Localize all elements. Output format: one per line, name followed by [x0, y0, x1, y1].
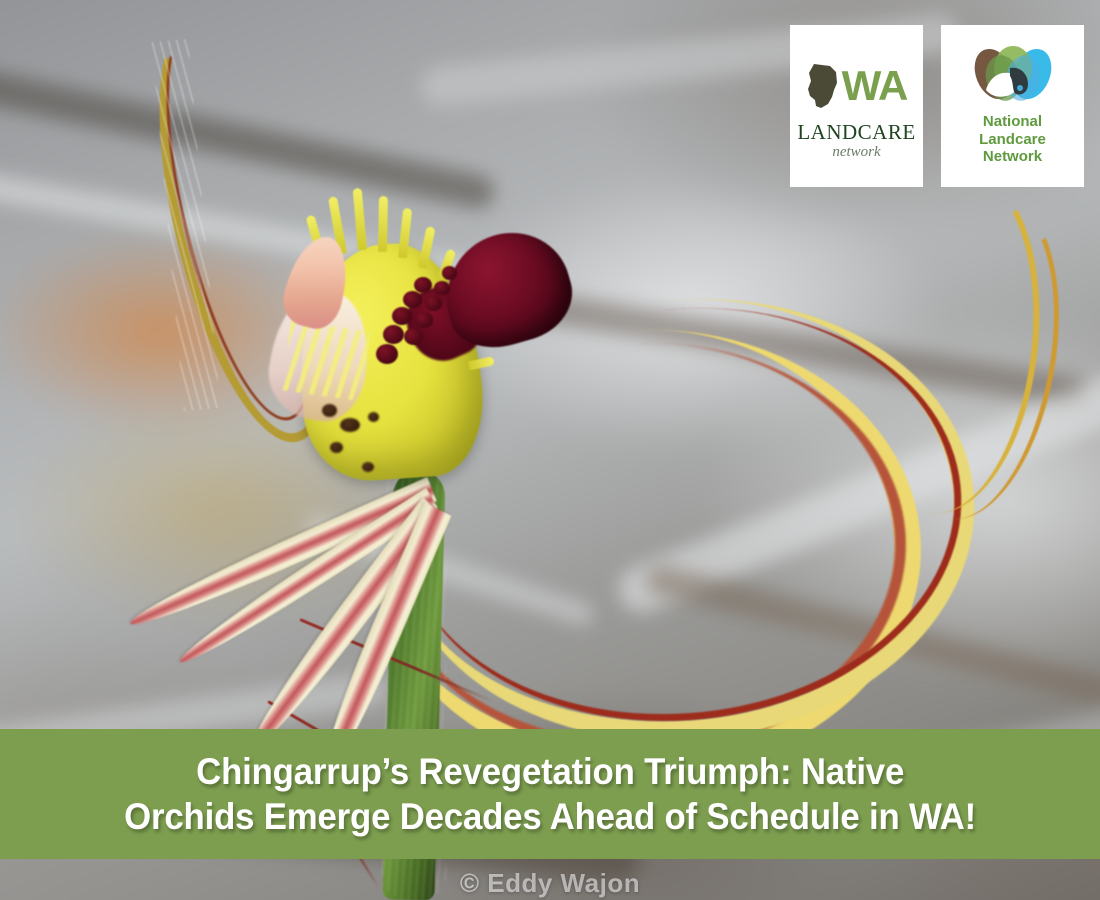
orchid-callus	[392, 307, 412, 325]
orchid-callus	[425, 296, 442, 311]
banner-title: Chingarrup’s Revegetation Triumph: Nativ…	[107, 749, 993, 839]
orchid-hood-spot	[330, 442, 343, 453]
title-banner: Chingarrup’s Revegetation Triumph: Nativ…	[0, 729, 1100, 859]
orchid-callus	[414, 277, 432, 293]
nln-logo-line-3: Network	[979, 148, 1046, 166]
photo-credit-watermark: © Eddy Wajon	[0, 868, 1100, 899]
orchid-fringe-tooth	[378, 196, 388, 252]
western-australia-map-icon	[806, 63, 840, 109]
orchid-callus	[404, 328, 423, 345]
logo-wa-landcare-network: WA LANDCARE network	[790, 25, 923, 187]
nln-logo-line-2: Landcare	[979, 131, 1046, 149]
orchid-callus	[403, 291, 422, 308]
wa-logo-letters: WA	[842, 65, 908, 107]
nln-logo-line-1: National	[979, 113, 1046, 131]
national-landcare-leaf-icon	[970, 46, 1056, 108]
orchid-callus	[383, 325, 404, 344]
logo-group: WA LANDCARE network National	[790, 25, 1084, 187]
poster-image: WA LANDCARE network National	[0, 0, 1100, 900]
orchid-hood-spot	[322, 404, 337, 417]
banner-title-line-1: Chingarrup’s Revegetation Triumph: Nativ…	[124, 749, 976, 794]
orchid-inner-fringe	[282, 321, 371, 401]
orchid-callus	[415, 312, 433, 328]
wa-logo-landcare-text: LANDCARE	[797, 122, 915, 143]
orchid-callus	[442, 266, 457, 280]
wa-logo-mark: WA	[806, 53, 908, 119]
nln-logo-text: National Landcare Network	[979, 113, 1046, 166]
orchid-hood-spot	[362, 462, 374, 472]
orchid-callus	[434, 281, 450, 295]
orchid-hood-spot	[340, 418, 360, 432]
logo-national-landcare-network: National Landcare Network	[941, 25, 1084, 187]
orchid-callus	[376, 344, 398, 364]
banner-title-line-2: Orchids Emerge Decades Ahead of Schedule…	[124, 794, 976, 839]
orchid-hood-spot	[368, 412, 379, 422]
orchid-fringe-tooth	[353, 188, 367, 251]
wa-logo-network-text: network	[832, 145, 880, 160]
